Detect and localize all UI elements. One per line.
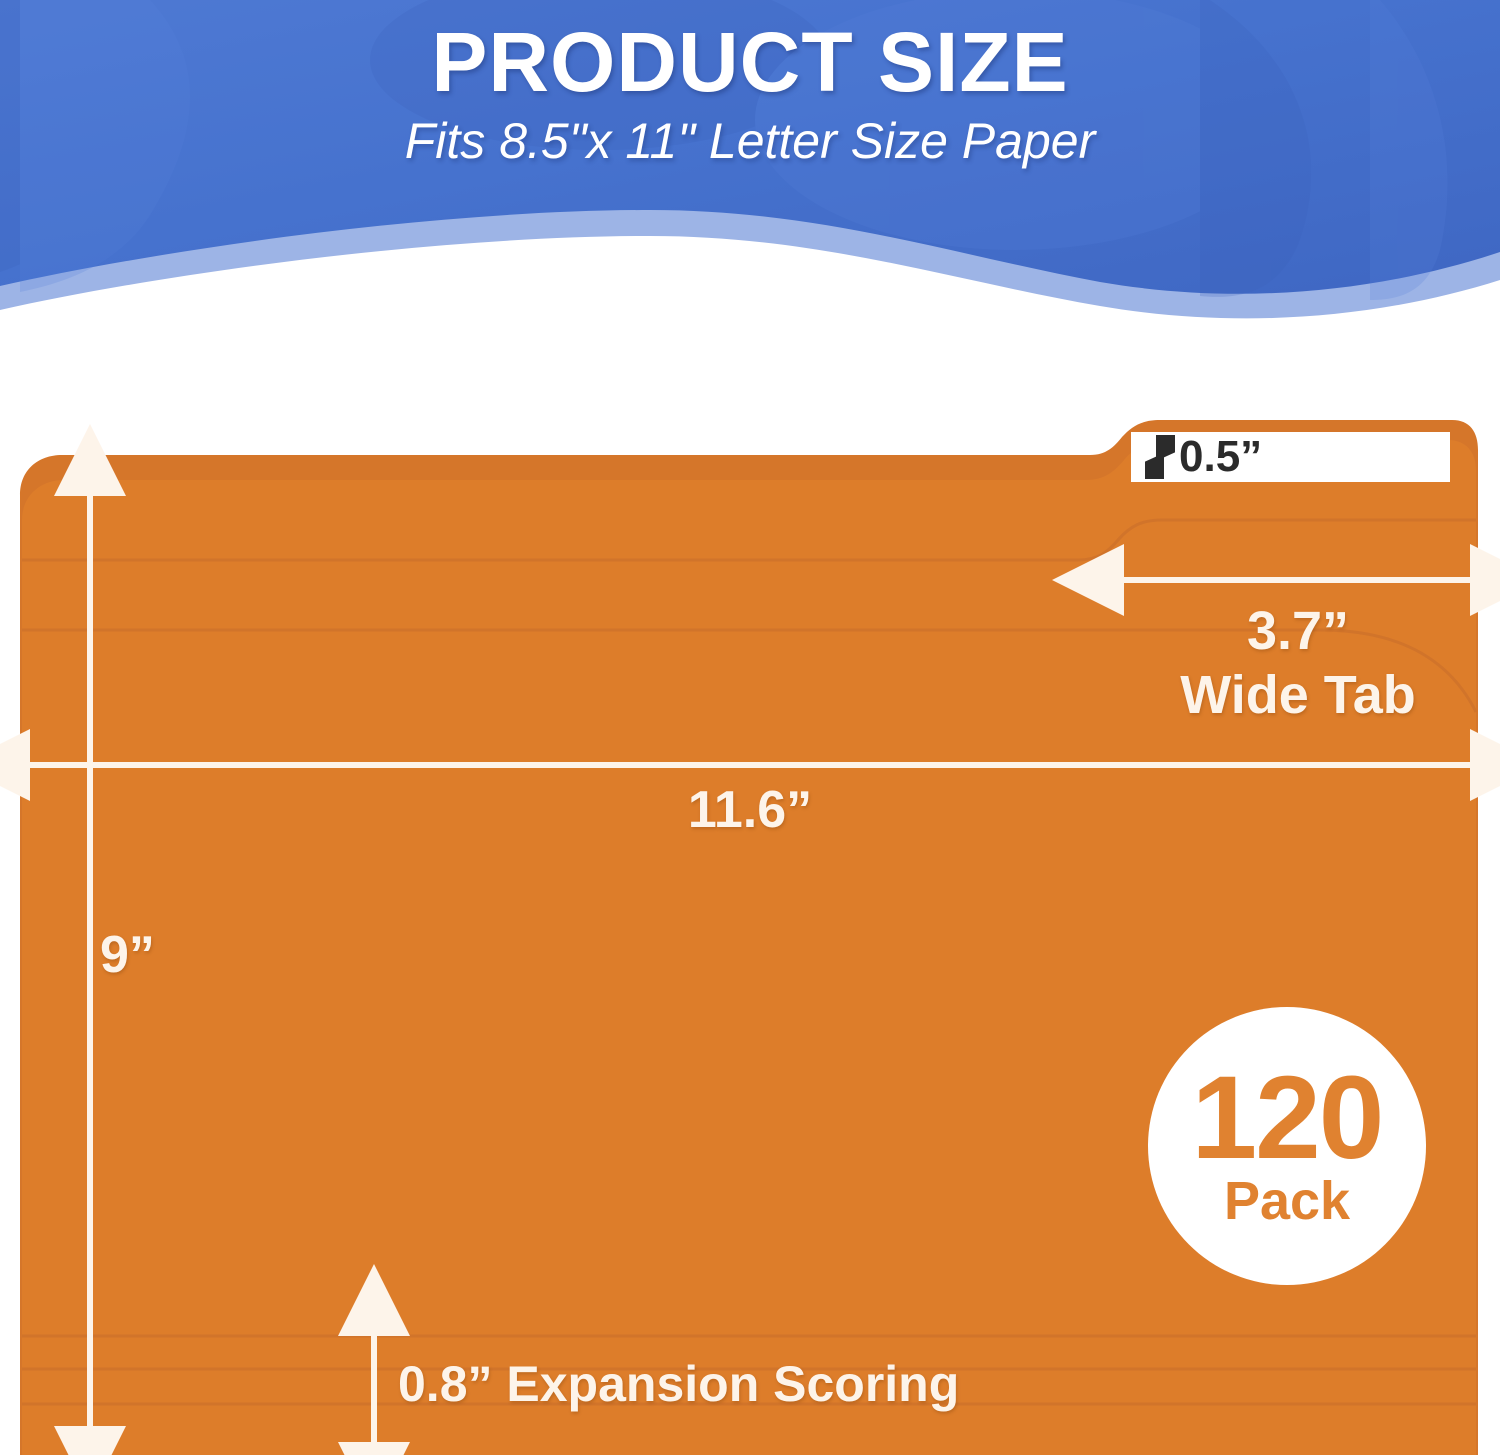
header-text-group: PRODUCT SIZE Fits 8.5"x 11" Letter Size …	[0, 0, 1500, 169]
product-size-infographic: PRODUCT SIZE Fits 8.5"x 11" Letter Size …	[0, 0, 1500, 1455]
page-subtitle: Fits 8.5"x 11" Letter Size Paper	[0, 106, 1500, 169]
pack-badge-count: 120	[1192, 1064, 1383, 1173]
file-folder-illustration: 0.5” 3.7” Wide Tab 11.6” 9” 0.8” Expansi…	[0, 0, 1500, 1455]
double-arrow-vertical-icon	[1145, 435, 1175, 479]
measurement-label-tab-width: 3.7” Wide Tab	[1128, 600, 1468, 727]
pack-quantity-badge: 120 Pack	[1148, 1007, 1426, 1285]
measurement-label-overall-width: 11.6”	[600, 780, 900, 840]
measurement-caption-tab-width: Wide Tab	[1128, 664, 1468, 728]
measurement-label-overall-height: 9”	[100, 925, 155, 985]
page-title: PRODUCT SIZE	[0, 0, 1500, 106]
measurement-label-expansion-scoring: 0.8” Expansion Scoring	[398, 1355, 959, 1413]
measurement-value-tab-width: 3.7”	[1128, 600, 1468, 664]
folder-front-panel	[22, 440, 1476, 1455]
tab-thickness-callout: 0.5”	[1131, 432, 1450, 482]
measurement-label-tab-thickness: 0.5”	[1179, 435, 1262, 479]
pack-badge-unit: Pack	[1224, 1174, 1350, 1228]
